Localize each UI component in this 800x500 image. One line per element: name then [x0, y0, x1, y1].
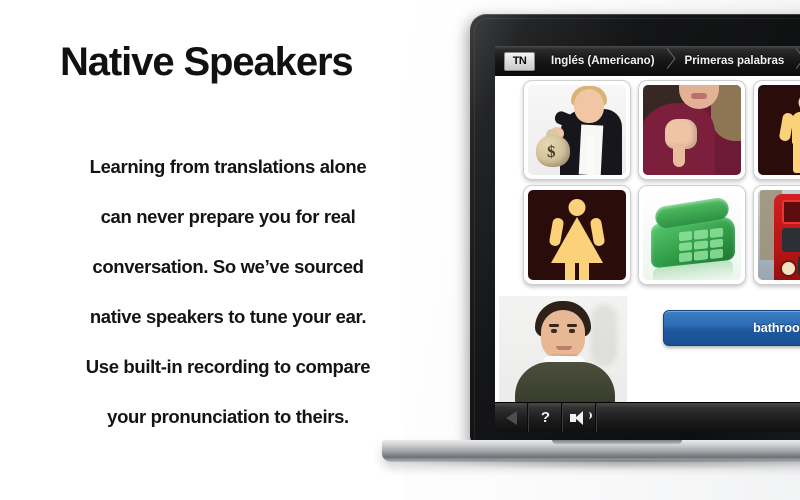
mouth-shape	[556, 346, 572, 350]
figure-leg-right-shape	[579, 260, 589, 280]
mens-restroom-sign-image	[758, 85, 800, 175]
copy-line-1: Learning from translations alone	[18, 142, 438, 192]
speaker-icon	[570, 411, 589, 425]
back-button[interactable]	[495, 403, 529, 432]
picture-tile-womens-restroom[interactable]	[523, 185, 631, 285]
volume-button[interactable]	[563, 403, 597, 432]
red-double-decker-bus-image	[758, 190, 800, 280]
picture-tile-green-telephone[interactable]	[638, 185, 746, 285]
breadcrumb-item-language[interactable]: Inglés (Americano)	[535, 46, 669, 76]
laptop-base-notch	[552, 440, 682, 444]
picture-tile-money-bag-woman[interactable]: $	[523, 80, 631, 180]
page-title: Native Speakers	[60, 40, 353, 85]
copy-line-6: your pronunciation to theirs.	[18, 392, 438, 442]
back-arrow-icon	[506, 411, 517, 425]
picture-tile-thumbs-down[interactable]	[638, 80, 746, 180]
money-bag-woman-image: $	[528, 85, 626, 175]
speaker-row: bathroom	[495, 296, 800, 404]
breadcrumb-label: Primeras palabras	[685, 55, 785, 67]
lips-shape	[691, 93, 707, 99]
thumbs-down-image	[643, 85, 741, 175]
laptop-shadow	[394, 460, 800, 470]
toolbar-filler	[597, 403, 800, 432]
figure-leg-left-shape	[793, 141, 800, 173]
eyebrow-left-shape	[549, 324, 559, 327]
tn-logo[interactable]: TN	[504, 52, 535, 71]
copy-line-2: can never prepare you for real	[18, 192, 438, 242]
picture-choice-grid: $	[523, 80, 800, 285]
laptop-screen: TN Inglés (Americano) Primeras palabras …	[495, 46, 800, 432]
womens-restroom-sign-image	[528, 190, 626, 280]
sweater-shape	[515, 362, 615, 404]
app-content: $	[495, 76, 800, 403]
picture-tile-mens-restroom[interactable]	[753, 80, 800, 180]
photo-shadow	[591, 304, 617, 366]
eye-left-shape	[551, 329, 557, 333]
copy-line-5: Use built-in recording to compare	[18, 342, 438, 392]
eye-right-shape	[569, 329, 575, 333]
marketing-body-copy: Learning from translations alone can nev…	[18, 142, 438, 442]
marketing-panel: Native Speakers Learning from translatio…	[0, 0, 460, 500]
thumb-shape	[673, 143, 685, 167]
dollar-sign-icon: $	[547, 142, 556, 162]
app-bottom-toolbar: ?	[495, 402, 800, 432]
collar-shape	[587, 135, 595, 175]
breadcrumb-label: Inglés (Americano)	[551, 55, 655, 67]
eyebrow-right-shape	[567, 324, 577, 327]
figure-head-shape	[569, 199, 586, 216]
help-button[interactable]: ?	[529, 403, 563, 432]
copy-line-4: native speakers to tune your ear.	[18, 292, 438, 342]
figure-skirt-shape	[551, 217, 603, 263]
language-app: TN Inglés (Americano) Primeras palabras …	[495, 46, 800, 432]
picture-tile-red-bus[interactable]	[753, 185, 800, 285]
phone-keypad-shape	[679, 228, 723, 263]
figure-body-shape	[792, 112, 800, 144]
question-mark-icon: ?	[541, 410, 550, 425]
figure-leg-left-shape	[565, 260, 575, 280]
headlight-left-shape	[780, 260, 797, 277]
answer-button-bathroom[interactable]: bathroom	[663, 310, 800, 346]
lower-window-shape	[782, 228, 800, 252]
app-topbar: TN Inglés (Americano) Primeras palabras …	[495, 46, 800, 77]
laptop-base	[382, 440, 800, 462]
laptop-mockup: TN Inglés (Americano) Primeras palabras …	[404, 0, 800, 500]
green-telephone-image	[643, 190, 741, 280]
head-shape	[574, 89, 604, 123]
upper-window-shape	[782, 200, 800, 224]
copy-line-3: conversation. So we’ve sourced	[18, 242, 438, 292]
breadcrumb-item-lesson[interactable]: Primeras palabras	[669, 46, 799, 76]
face-shape	[541, 310, 585, 360]
native-speaker-video[interactable]	[499, 296, 627, 404]
